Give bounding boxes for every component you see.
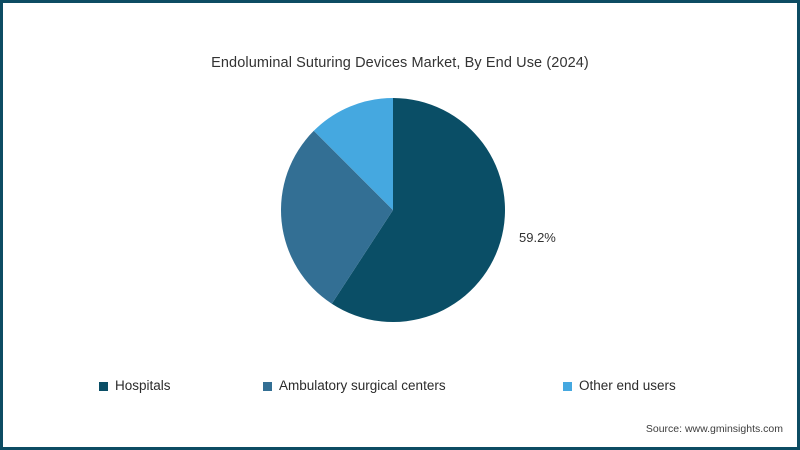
- source-attribution: Source: www.gminsights.com: [646, 423, 783, 435]
- pie-slices: [281, 98, 505, 322]
- legend-item-label: Other end users: [579, 379, 676, 393]
- chart-container: Endoluminal Suturing Devices Market, By …: [0, 0, 800, 450]
- chart-legend: Hospitals Ambulatory surgical centers Ot…: [3, 376, 797, 396]
- legend-item-ambulatory-surgical-centers[interactable]: Ambulatory surgical centers: [263, 376, 446, 396]
- pie-svg: [278, 95, 508, 325]
- legend-swatch-icon: [99, 382, 108, 391]
- legend-item-other-end-users[interactable]: Other end users: [563, 376, 676, 396]
- pie-chart: [278, 95, 508, 325]
- legend-item-label: Ambulatory surgical centers: [279, 379, 446, 393]
- chart-title: Endoluminal Suturing Devices Market, By …: [3, 55, 797, 71]
- pie-label-hospitals: 59.2%: [519, 230, 556, 245]
- legend-swatch-icon: [563, 382, 572, 391]
- legend-swatch-icon: [263, 382, 272, 391]
- legend-item-label: Hospitals: [115, 379, 171, 393]
- legend-item-hospitals[interactable]: Hospitals: [99, 376, 171, 396]
